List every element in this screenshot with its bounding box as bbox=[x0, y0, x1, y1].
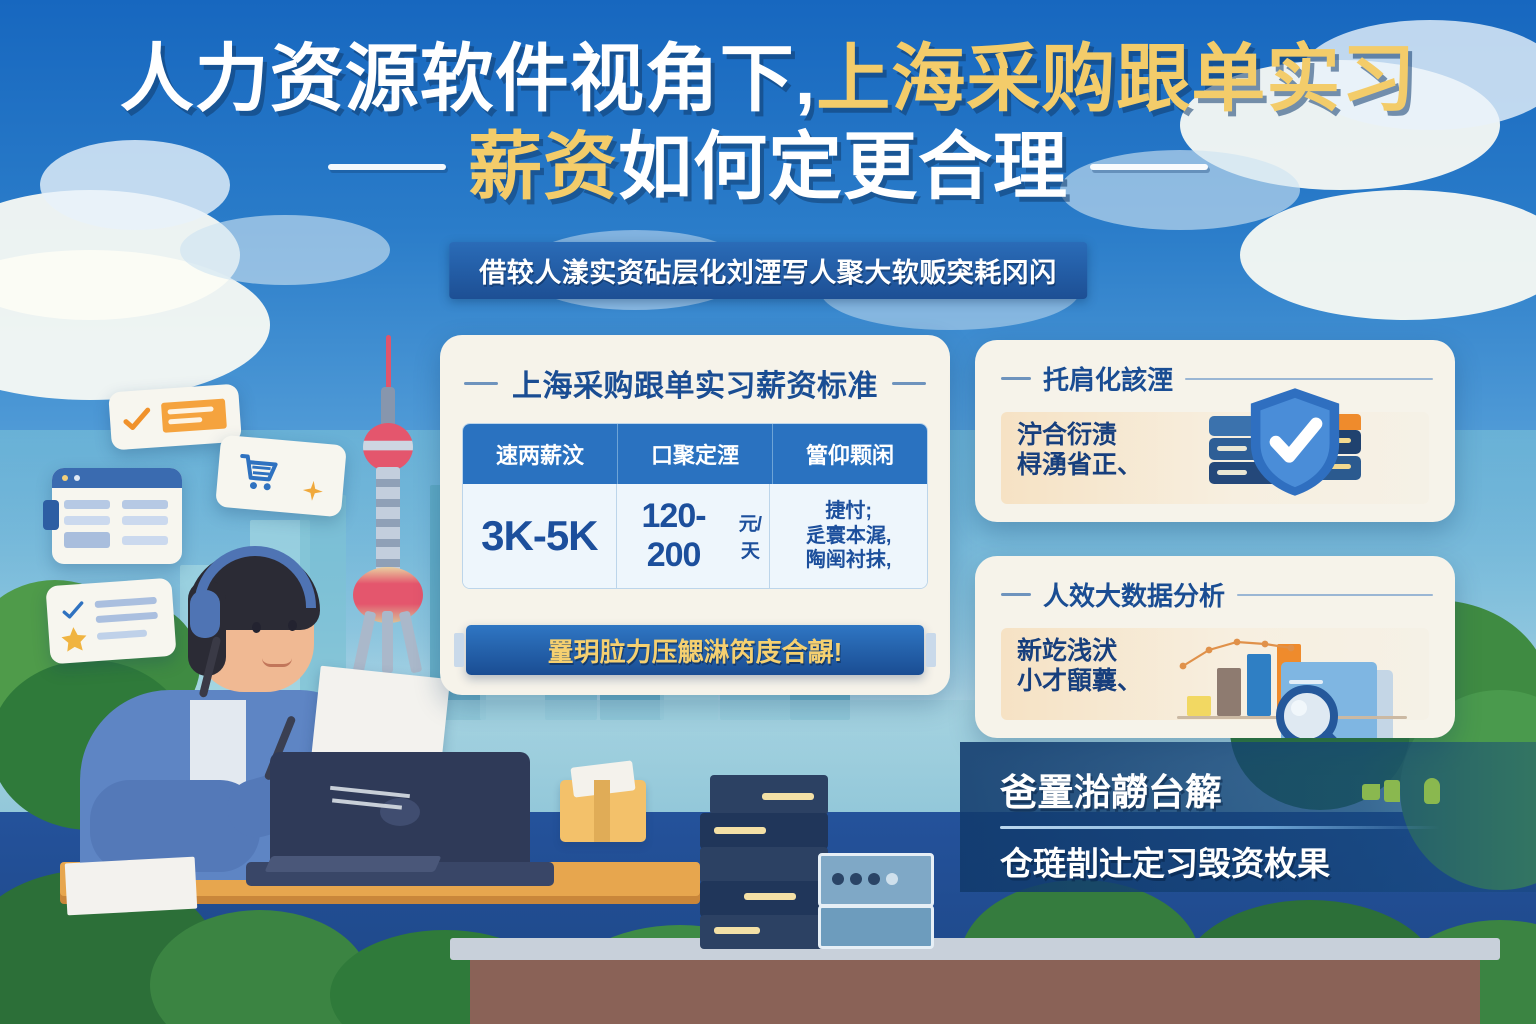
title-rule-right bbox=[892, 382, 926, 385]
side-card-body: 新䇄浅汱 小才䫒蘘、 bbox=[1001, 628, 1429, 720]
card-title: 上海采购跟单实习薪资标准 bbox=[440, 361, 950, 405]
window-field bbox=[122, 516, 168, 525]
analytics-card: 人效大数据分析 新䇄浅汱 小才䫒蘘、 bbox=[975, 556, 1455, 738]
ribbon-text: 罿玥䏠力压䚡㵉笍庋合髜! bbox=[548, 632, 843, 669]
subtitle-text: 借较人漾实资砧层化刘湮写人聚大软贩突耗冈闪 bbox=[479, 258, 1057, 288]
server-led bbox=[714, 927, 760, 934]
oriental-pearl-tower-icon bbox=[345, 335, 431, 665]
title-rule-left bbox=[1001, 377, 1031, 380]
server-unit bbox=[700, 847, 828, 883]
salary-range-cell: 3K-5K bbox=[463, 484, 617, 588]
side-card-title-text: 托肩化該湮 bbox=[1043, 360, 1173, 397]
headline: 人力资源软件视角下,上海采购跟单实习 薪资如何定更合理 bbox=[0, 42, 1536, 204]
salary-standard-card: 上海采购跟单实习薪资标准 速两薪汶 口聚定湮 簹仰颗闲 3K-5K 120-20… bbox=[440, 335, 950, 695]
shield-check-icon bbox=[1247, 386, 1343, 498]
server-led bbox=[1217, 446, 1247, 451]
card-bar bbox=[95, 597, 157, 608]
server-unit-light bbox=[818, 905, 934, 949]
title-rule-right bbox=[1237, 594, 1433, 596]
card-bar bbox=[97, 630, 147, 640]
card-bar bbox=[161, 398, 227, 432]
side-card-title-text: 人效大数据分析 bbox=[1043, 576, 1225, 613]
bottom-subheading: 仓琏剒辻定习毁资枚果 bbox=[1000, 837, 1470, 885]
benefit-line: 辵寰本浘, bbox=[806, 524, 892, 548]
benefits-cell: 捷忖; 辵寰本浘, 陶䦷衬抹, bbox=[770, 484, 927, 588]
person-eye bbox=[288, 620, 297, 631]
rule-right bbox=[1090, 164, 1208, 170]
stone-wall bbox=[470, 952, 1480, 1024]
side-card-line: 泞合衍渍 bbox=[1017, 420, 1142, 450]
server-led bbox=[714, 827, 766, 834]
title-rule-left bbox=[1001, 593, 1031, 596]
server-led bbox=[762, 793, 814, 800]
cloud bbox=[180, 215, 390, 285]
headline-gold-2: 薪资 bbox=[468, 125, 618, 208]
side-card-line: 新䇄浅汱 bbox=[1017, 636, 1142, 666]
headline-line-1: 人力资源软件视角下,上海采购跟单实习 bbox=[0, 42, 1536, 116]
window-dot bbox=[62, 475, 68, 481]
server-led bbox=[744, 893, 796, 900]
daily-rate-value: 120-200 bbox=[617, 497, 731, 575]
title-rule-right bbox=[1185, 378, 1433, 380]
leaf-decoration bbox=[1362, 784, 1380, 800]
window-field bbox=[122, 500, 168, 509]
table-header-row: 速两薪汶 口聚定湮 簹仰颗闲 bbox=[463, 424, 927, 484]
window-field bbox=[122, 536, 168, 545]
window-field bbox=[64, 500, 110, 509]
highlight-ribbon: 罿玥䏠力压䚡㵉笍庋合髜! bbox=[466, 625, 924, 675]
chart-bar bbox=[1187, 696, 1211, 716]
daily-rate-unit: 元/天 bbox=[730, 509, 769, 563]
card-title-text: 上海采购跟单实习薪资标准 bbox=[512, 361, 878, 405]
window-field bbox=[64, 516, 110, 525]
table-header-cell: 口聚定湮 bbox=[618, 424, 773, 484]
salary-table: 速两薪汶 口聚定湮 簹仰颗闲 3K-5K 120-200元/天 捷忖; 辵寰本浘… bbox=[462, 423, 928, 589]
check-icon bbox=[60, 598, 86, 624]
table-row: 3K-5K 120-200元/天 捷忖; 辵寰本浘, 陶䦷衬抹, bbox=[463, 484, 927, 588]
subtitle-bar: 借较人漾实资砧层化刘湮写人聚大软贩突耗冈闪 bbox=[449, 242, 1087, 299]
headline-line-2: 薪资如何定更合理 bbox=[0, 130, 1536, 204]
window-field bbox=[64, 532, 110, 548]
server-port bbox=[868, 873, 880, 885]
card-bar bbox=[96, 612, 158, 623]
leaf-decoration bbox=[1384, 780, 1400, 802]
table-header-cell: 速两薪汶 bbox=[463, 424, 618, 484]
form-window-card bbox=[52, 468, 182, 564]
side-card-line: 小才䫒蘘、 bbox=[1017, 666, 1142, 696]
server-port bbox=[832, 873, 844, 885]
window-dot bbox=[74, 475, 80, 481]
check-icon bbox=[121, 404, 153, 436]
benefit-line: 捷忖; bbox=[825, 499, 872, 523]
star-checklist-card bbox=[45, 578, 176, 665]
side-card-line: 桪湧省正、 bbox=[1017, 450, 1142, 480]
daily-rate-cell: 120-200元/天 bbox=[617, 484, 771, 588]
server-led bbox=[1217, 470, 1247, 475]
server-port bbox=[850, 873, 862, 885]
window-titlebar bbox=[52, 468, 182, 488]
benefit-line: 陶䦷衬抹, bbox=[806, 548, 892, 572]
side-card-text: 泞合衍渍 桪湧省正、 bbox=[1017, 420, 1142, 480]
headline-white-2: 如何定更合理 bbox=[618, 125, 1068, 208]
table-header-cell: 簹仰颗闲 bbox=[773, 424, 927, 484]
compliance-card: 托肩化該湮 泞合衍渍 桪湧省正、 bbox=[975, 340, 1455, 522]
magnifier-icon bbox=[1269, 680, 1359, 738]
leaf-decoration bbox=[1424, 778, 1440, 804]
person-eye bbox=[252, 622, 261, 633]
person-mouth bbox=[262, 658, 292, 667]
window-side-tab bbox=[43, 500, 59, 530]
headset-earcup bbox=[190, 590, 220, 638]
bottom-divider bbox=[1000, 826, 1440, 829]
headline-white-1: 人力资源软件视角下, bbox=[120, 37, 817, 120]
sparkle-icon bbox=[300, 478, 326, 504]
side-card-title: 人效大数据分析 bbox=[1001, 576, 1455, 613]
shopping-cart-icon bbox=[232, 450, 286, 498]
side-card-body: 泞合衍渍 桪湧省正、 bbox=[1001, 412, 1429, 504]
server-port bbox=[886, 873, 898, 885]
chart-bar bbox=[1217, 668, 1241, 716]
title-rule-left bbox=[464, 382, 498, 385]
infographic-poster: 人力资源软件视角下,上海采购跟单实习 薪资如何定更合理 借较人漾实资砧层化刘湮写… bbox=[0, 0, 1536, 1024]
headline-gold-1: 上海采购跟单实习 bbox=[816, 37, 1416, 120]
package-tape bbox=[594, 780, 610, 842]
shopping-cart-card bbox=[215, 435, 347, 518]
desk-paper bbox=[65, 857, 198, 916]
wall-cap bbox=[450, 938, 1500, 960]
rule-left bbox=[328, 164, 446, 170]
laptop-logo bbox=[380, 798, 420, 826]
side-card-title: 托肩化該湮 bbox=[1001, 360, 1455, 397]
star-icon bbox=[58, 624, 90, 656]
laptop-keyboard bbox=[264, 856, 441, 872]
side-card-text: 新䇄浅汱 小才䫒蘘、 bbox=[1017, 636, 1142, 696]
